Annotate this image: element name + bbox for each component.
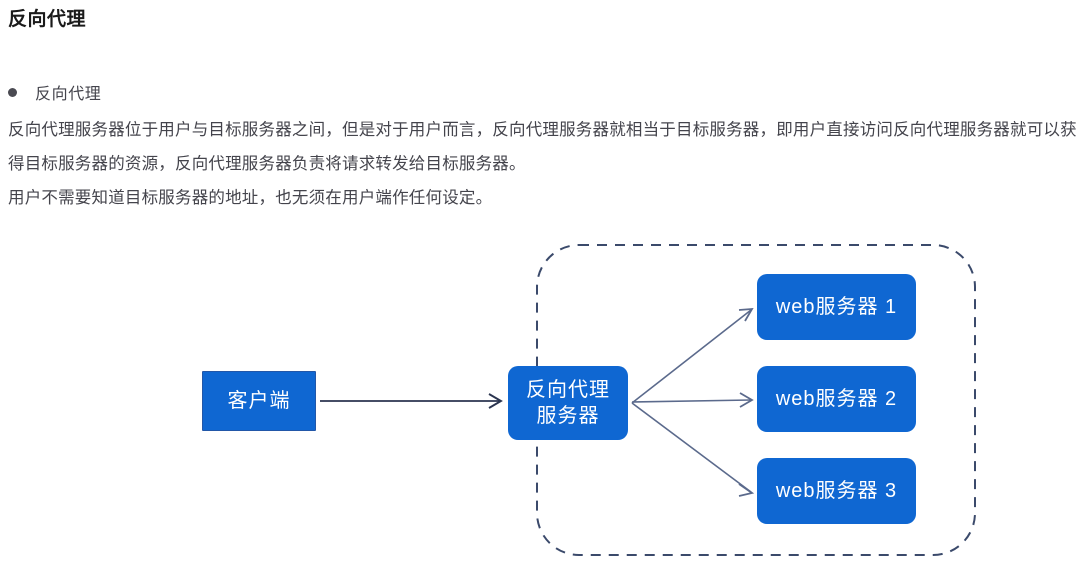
edge-proxy-to-web2 <box>632 393 752 407</box>
node-proxy-label-line2: 服务器 <box>526 403 610 429</box>
node-web-server-1-label: web服务器 1 <box>776 294 897 320</box>
node-web-server-3[interactable]: web服务器 3 <box>757 458 916 524</box>
bullet-item-label: 反向代理 <box>35 80 101 104</box>
node-web-server-1[interactable]: web服务器 1 <box>757 274 916 340</box>
reverse-proxy-diagram: 客户端 反向代理 服务器 web服务器 1 web服务器 2 web服务器 3 <box>0 230 1091 570</box>
node-web-server-2[interactable]: web服务器 2 <box>757 366 916 432</box>
node-client-label: 客户端 <box>228 388 291 414</box>
node-reverse-proxy-server[interactable]: 反向代理 服务器 <box>508 366 628 440</box>
page-title: 反向代理 <box>8 4 86 31</box>
body-paragraphs: 反向代理服务器位于用户与目标服务器之间，但是对于用户而言，反向代理服务器就相当于… <box>8 113 1083 215</box>
edge-proxy-to-web1 <box>632 309 752 403</box>
bullet-dot-icon <box>8 88 17 97</box>
bullet-list-item: 反向代理 <box>8 80 101 104</box>
edge-proxy-to-web3 <box>632 403 752 496</box>
body-paragraph-2: 用户不需要知道目标服务器的地址，也无须在用户端作任何设定。 <box>8 181 1083 215</box>
body-paragraph-1: 反向代理服务器位于用户与目标服务器之间，但是对于用户而言，反向代理服务器就相当于… <box>8 113 1083 181</box>
node-proxy-label-line1: 反向代理 <box>526 377 610 403</box>
node-client[interactable]: 客户端 <box>202 371 316 431</box>
node-web-server-3-label: web服务器 3 <box>776 478 897 504</box>
node-web-server-2-label: web服务器 2 <box>776 386 897 412</box>
edge-client-to-proxy <box>320 394 501 408</box>
